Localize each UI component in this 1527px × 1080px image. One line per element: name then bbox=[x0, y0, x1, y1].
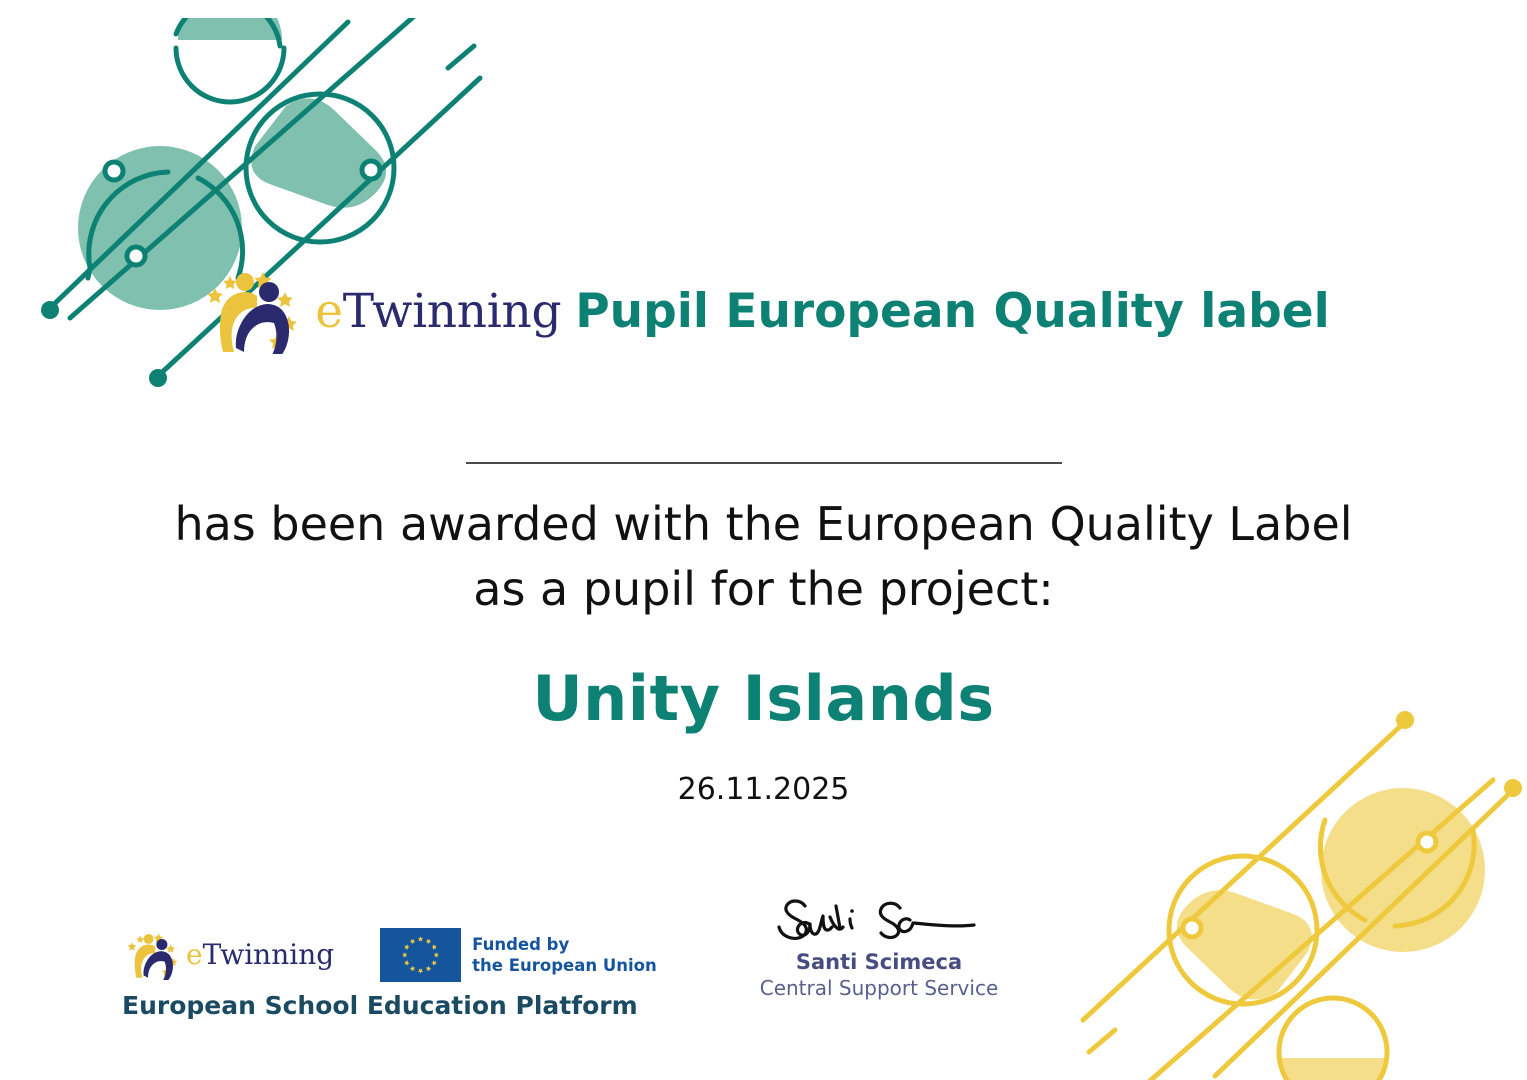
star-icon bbox=[136, 936, 144, 943]
head-dot-navy bbox=[259, 282, 279, 302]
project-title: Unity Islands bbox=[0, 662, 1527, 735]
signature-stroke-i bbox=[850, 919, 852, 928]
award-line-2: as a pupil for the project: bbox=[0, 557, 1527, 622]
signatory-name: Santi Scimeca bbox=[734, 950, 1024, 974]
arc-left bbox=[1395, 830, 1474, 926]
award-date: 26.11.2025 bbox=[0, 772, 1527, 807]
arc-right bbox=[1320, 820, 1365, 920]
recipient-name-line bbox=[466, 462, 1062, 464]
node-dot-filled-2 bbox=[149, 369, 167, 387]
eu-funding-line-1: Funded by bbox=[472, 934, 657, 955]
arc-right bbox=[198, 178, 243, 278]
signature-stroke-a bbox=[797, 923, 820, 936]
etwinning-logo bbox=[197, 268, 309, 354]
signature-block: Santi Scimeca Central Support Service bbox=[734, 893, 1024, 1000]
node-dot-hollow-2 bbox=[1418, 833, 1436, 851]
large-disc-shape bbox=[1321, 788, 1485, 952]
etwinning-wordmark: eTwinning bbox=[315, 288, 561, 335]
wordmark-e: e bbox=[315, 284, 343, 339]
certificate-header: eTwinning Pupil European Quality label bbox=[0, 268, 1527, 354]
signature-trailing-stroke bbox=[914, 923, 974, 926]
ring-outline-top bbox=[1279, 998, 1387, 1080]
head-dot-yellow bbox=[144, 934, 154, 944]
diagonal-line-1 bbox=[50, 22, 348, 308]
star-icon bbox=[207, 288, 223, 303]
signature-stroke-t2 bbox=[836, 906, 840, 928]
ring-arc-top-2 bbox=[176, 18, 280, 46]
wordmark-e: e bbox=[186, 938, 203, 971]
rounded-triangle-shape bbox=[245, 89, 398, 216]
eu-funding-text: Funded by the European Union bbox=[472, 934, 657, 976]
signature-stroke-c bbox=[899, 919, 913, 932]
footer-logos-row: eTwinning bbox=[122, 928, 657, 982]
diagonal-line-3 bbox=[1083, 722, 1405, 1020]
head-dot-navy bbox=[156, 939, 167, 950]
footer-branding: eTwinning bbox=[122, 928, 657, 1020]
flag-background bbox=[380, 928, 461, 982]
award-statement: has been awarded with the European Quali… bbox=[0, 492, 1527, 623]
certificate-page: eTwinning Pupil European Quality label h… bbox=[0, 0, 1527, 1080]
arc-left bbox=[89, 172, 168, 268]
signature-stroke-S2 bbox=[880, 903, 900, 937]
ring-outline-mid bbox=[1169, 856, 1317, 1004]
rounded-triangle-shape bbox=[1165, 882, 1318, 1009]
node-dot-hollow-3 bbox=[362, 161, 380, 179]
ring-outline-mid bbox=[246, 94, 394, 242]
star-icon bbox=[128, 942, 137, 950]
certificate-title: Pupil European Quality label bbox=[575, 284, 1330, 339]
diagonal-line-4 bbox=[448, 46, 474, 68]
head-dot-yellow bbox=[236, 273, 254, 291]
diagonal-line-1 bbox=[1215, 790, 1513, 1076]
node-dot-hollow-3 bbox=[1183, 919, 1201, 937]
ring-arc-top bbox=[176, 48, 284, 102]
diagonal-line-2 bbox=[1103, 780, 1493, 1080]
wordmark-twinning: Twinning bbox=[343, 284, 561, 339]
etwinning-footer-logo: eTwinning bbox=[122, 930, 334, 980]
wordmark-twinning: Twinning bbox=[203, 938, 335, 971]
deco-yellow-shapes bbox=[1083, 711, 1522, 1080]
platform-name: European School Education Platform bbox=[122, 991, 657, 1020]
node-dot-hollow-1 bbox=[105, 162, 123, 180]
decorative-pattern-yellow bbox=[1063, 680, 1527, 1080]
half-disc-shape bbox=[178, 18, 282, 40]
star-icon bbox=[223, 276, 237, 289]
etwinning-logo bbox=[122, 930, 184, 980]
signature-dot-i bbox=[850, 909, 854, 913]
signatory-role: Central Support Service bbox=[734, 976, 1024, 1000]
european-union-flag bbox=[380, 928, 461, 982]
eu-funding-logo: Funded by the European Union bbox=[380, 928, 657, 982]
signature-stroke-S bbox=[779, 901, 806, 938]
deco-nodes bbox=[1183, 711, 1522, 937]
node-dot-hollow-2 bbox=[127, 247, 145, 265]
diagonal-line-4 bbox=[1089, 1030, 1115, 1052]
eu-funding-line-2: the European Union bbox=[472, 955, 657, 976]
handwritten-signature bbox=[764, 893, 994, 949]
half-disc-shape bbox=[1281, 1058, 1385, 1080]
star-icon bbox=[166, 944, 175, 952]
etwinning-wordmark: eTwinning bbox=[186, 941, 334, 969]
decorative-pattern-teal bbox=[30, 18, 500, 418]
award-line-1: has been awarded with the European Quali… bbox=[0, 492, 1527, 557]
star-icon bbox=[277, 292, 293, 307]
